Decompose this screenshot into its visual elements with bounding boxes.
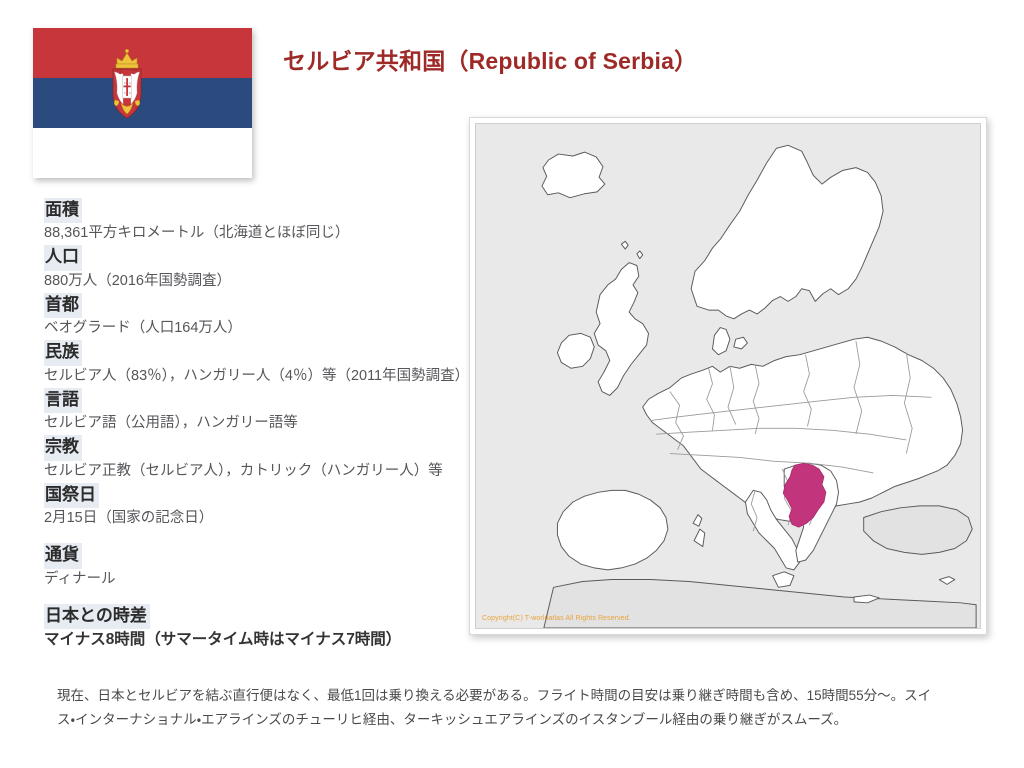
- info-term-area: 面積: [44, 198, 464, 223]
- info-desc-religion: セルビア正教（セルビア人），カトリック（ハンガリー人）等: [44, 461, 464, 482]
- info-block-language: 言語 セルビア語（公用語），ハンガリー語等: [44, 388, 464, 434]
- info-term-currency: 通貨: [44, 543, 464, 568]
- info-term-language: 言語: [44, 388, 464, 413]
- europe-map-icon: [476, 124, 980, 628]
- info-block-area: 面積 88,361平方キロメートル（北海道とほぼ同じ）: [44, 198, 464, 244]
- info-desc-area: 88,361平方キロメートル（北海道とほぼ同じ）: [44, 223, 464, 244]
- info-block-capital: 首都 ベオグラード（人口164万人）: [44, 293, 464, 339]
- footnote-line-1: 現在、日本とセルビアを結ぶ直行便はなく、最低1回は乗り換える必要がある。フライト…: [57, 684, 957, 708]
- info-term-religion: 宗教: [44, 435, 464, 460]
- footnote-text: 現在、日本とセルビアを結ぶ直行便はなく、最低1回は乗り換える必要がある。フライト…: [57, 684, 957, 731]
- country-profile-page: { "header": { "title": "セルビア共和国（Republic…: [0, 0, 1024, 768]
- info-desc-population: 880万人（2016年国勢調査）: [44, 271, 464, 292]
- info-block-ethnicity: 民族 セルビア人（83％），ハンガリー人（4％）等（2011年国勢調査）: [44, 340, 464, 386]
- info-block-population: 人口 880万人（2016年国勢調査）: [44, 245, 464, 291]
- info-desc-capital: ベオグラード（人口164万人）: [44, 318, 464, 339]
- info-desc-time-difference: マイナス8時間（サマータイム時はマイナス7時間）: [44, 629, 464, 651]
- info-desc-language: セルビア語（公用語），ハンガリー語等: [44, 413, 464, 434]
- info-desc-ethnicity: セルビア人（83％），ハンガリー人（4％）等（2011年国勢調査）: [44, 366, 464, 387]
- info-term-time-difference: 日本との時差: [44, 604, 464, 629]
- info-block-time-difference: 日本との時差 マイナス8時間（サマータイム時はマイナス7時間）: [44, 604, 464, 652]
- flag-image: C C C C: [33, 28, 252, 178]
- info-block-national-day: 国祭日 2月15日（国家の記念日）: [44, 483, 464, 529]
- info-block-currency: 通貨 ディナール: [44, 543, 464, 589]
- info-term-national-day: 国祭日: [44, 483, 464, 508]
- map-canvas: Copyright(C) T-worldatlas All Rights Res…: [475, 123, 981, 629]
- info-term-capital: 首都: [44, 293, 464, 318]
- info-term-population: 人口: [44, 245, 464, 270]
- serbia-flag-icon: C C C C: [33, 28, 252, 178]
- map-copyright-text: Copyright(C) T-worldatlas All Rights Res…: [482, 615, 631, 622]
- info-desc-national-day: 2月15日（国家の記念日）: [44, 508, 464, 529]
- info-term-ethnicity: 民族: [44, 340, 464, 365]
- footnote-line-2: ス・インターナショナル・エアラインズのチューリヒ経由、ターキッシュエアラインズの…: [57, 708, 957, 732]
- country-info-list: 面積 88,361平方キロメートル（北海道とほぼ同じ） 人口 880万人（201…: [44, 198, 464, 653]
- info-desc-currency: ディナール: [44, 569, 464, 590]
- page-title: セルビア共和国（Republic of Serbia）: [283, 42, 697, 76]
- europe-map-panel: Copyright(C) T-worldatlas All Rights Res…: [469, 117, 987, 635]
- info-block-religion: 宗教 セルビア正教（セルビア人），カトリック（ハンガリー人）等: [44, 435, 464, 481]
